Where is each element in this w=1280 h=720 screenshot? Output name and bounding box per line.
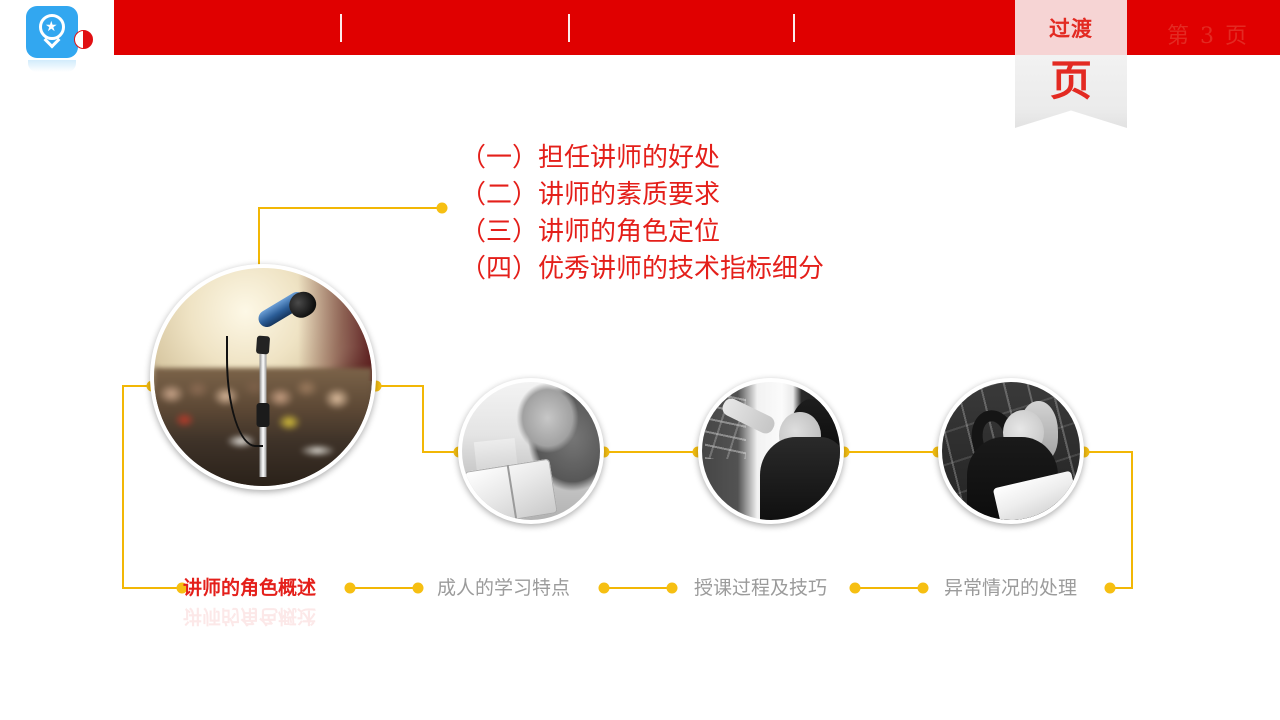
connector-main-right-horizontal <box>376 385 424 387</box>
connector-circle3-circle4 <box>844 451 938 453</box>
node-label-4[interactable]: 异常情况的处理 <box>944 573 1077 600</box>
node-image-2[interactable] <box>458 378 604 524</box>
connector-left-bottom-horizontal <box>122 587 182 589</box>
ribbon-top: 过渡 <box>1015 0 1127 55</box>
connector-circle2-circle3 <box>604 451 698 453</box>
connector-dot-agenda <box>437 203 448 214</box>
microphone-auditorium-photo <box>154 268 372 486</box>
node-image-3[interactable] <box>698 378 844 524</box>
woman-writing-blackboard-photo <box>702 382 840 520</box>
agenda-list: （一）担任讲师的好处 （二）讲师的素质要求 （三）讲师的角色定位 （四）优秀讲师… <box>460 140 960 288</box>
label-dot-2-right <box>599 583 610 594</box>
connector-top-horizontal <box>258 207 442 209</box>
label-connector-2-3 <box>604 587 672 589</box>
agenda-item-4: （四）优秀讲师的技术指标细分 <box>460 251 960 288</box>
node-label-1[interactable]: 讲师的角色概述 <box>183 573 316 600</box>
node-image-1[interactable] <box>150 264 376 490</box>
label-dot-4-left <box>918 583 929 594</box>
connector-dot-label-4 <box>1105 583 1116 594</box>
connector-main-right-vertical <box>422 385 424 452</box>
ribbon-top-label: 过渡 <box>1049 13 1093 43</box>
agenda-item-1: （一）担任讲师的好处 <box>460 140 960 177</box>
half-red-circle-icon <box>74 30 93 49</box>
header-tick-2 <box>568 14 570 42</box>
woman-reading-book-photo <box>462 382 600 520</box>
label-dot-2-left <box>413 583 424 594</box>
node-label-2[interactable]: 成人的学习特点 <box>437 573 570 600</box>
connector-right-vertical <box>1131 451 1133 588</box>
label-connector-3-4 <box>855 587 923 589</box>
transition-ribbon: 过渡 页 <box>1015 0 1127 128</box>
label-dot-1-right <box>345 583 356 594</box>
header-tick-3 <box>793 14 795 42</box>
ribbon-bottom: 页 <box>1015 55 1127 128</box>
connector-circle4-right-horizontal <box>1084 451 1133 453</box>
connector-left-vertical <box>122 385 124 588</box>
star-icon: ★ <box>45 20 58 34</box>
logo-reflection <box>28 60 76 72</box>
brand-logo: ★ <box>26 6 104 64</box>
header-tick-1 <box>340 14 342 42</box>
node-image-4[interactable] <box>938 378 1084 524</box>
label-connector-1-2 <box>350 587 418 589</box>
agenda-item-2: （二）讲师的素质要求 <box>460 177 960 214</box>
label-dot-3-right <box>850 583 861 594</box>
ribbon-bottom-label: 页 <box>1050 55 1092 107</box>
node-label-3[interactable]: 授课过程及技巧 <box>694 573 827 600</box>
node-label-1-reflection: 讲师的角色概述 <box>183 604 316 631</box>
woman-books-chalkboard-photo <box>942 382 1080 520</box>
label-dot-3-left <box>667 583 678 594</box>
slide-canvas: ★ 过渡 页 第 3 页 （一）担任讲师的好处 （二）讲师的素质要求 （三）讲师… <box>0 0 1280 720</box>
agenda-item-3: （三）讲师的角色定位 <box>460 214 960 251</box>
page-number: 第 3 页 <box>1167 18 1249 50</box>
